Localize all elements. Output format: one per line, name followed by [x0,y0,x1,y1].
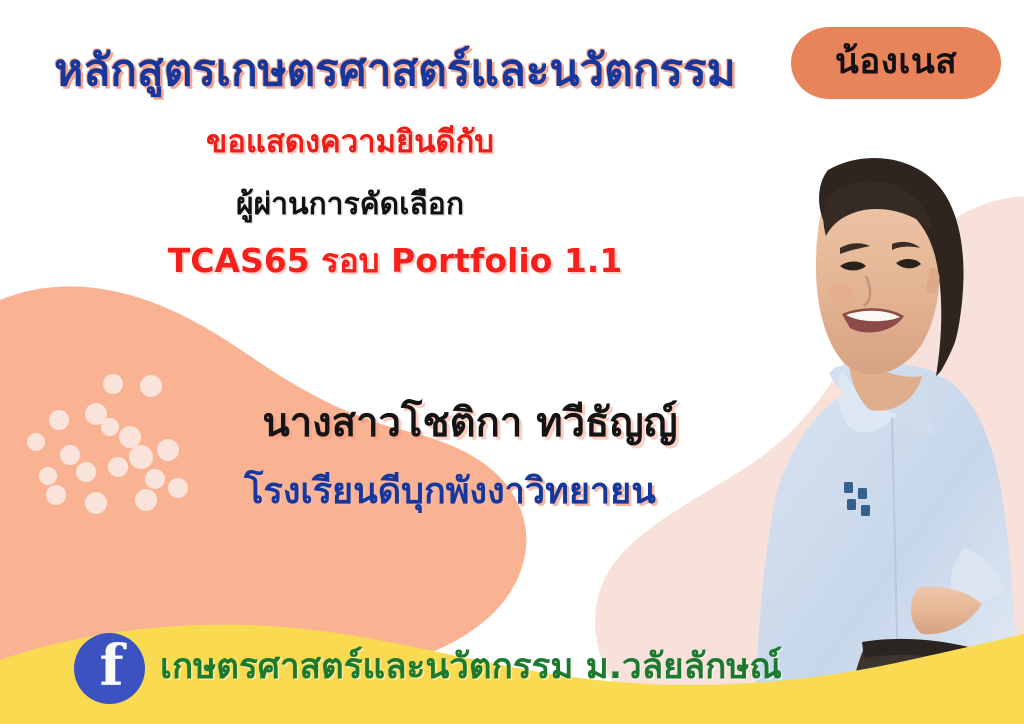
cheek-blush [829,285,855,303]
nickname-badge: น้องเนส [791,27,1001,99]
congratulation-line: ขอแสดงความยินดีกับ [0,127,700,158]
student-name: นางสาวโชติกา ทวีธัญญ์ [120,403,820,443]
poster-canvas: น้องเนส หลักสูตรเกษตรศาสตร์และนวัตกรรม ข… [0,0,1024,724]
admission-round-line: TCAS65 รอบ Portfolio 1.1 [0,244,790,277]
facebook-icon[interactable]: f [74,633,145,704]
facebook-page-name[interactable]: เกษตรศาสตร์และนวัตกรรม ม.วลัยลักษณ์ [160,650,782,685]
qualifier-line: ผู้ผ่านการคัดเลือก [0,190,700,220]
facebook-f-glyph: f [99,638,123,694]
program-headline: หลักสูตรเกษตรศาสตร์และนวัตกรรม [0,49,790,93]
nickname-label: น้องเนส [835,45,957,80]
student-school: โรงเรียนดีบุกพังงาวิทยายน [100,474,800,510]
